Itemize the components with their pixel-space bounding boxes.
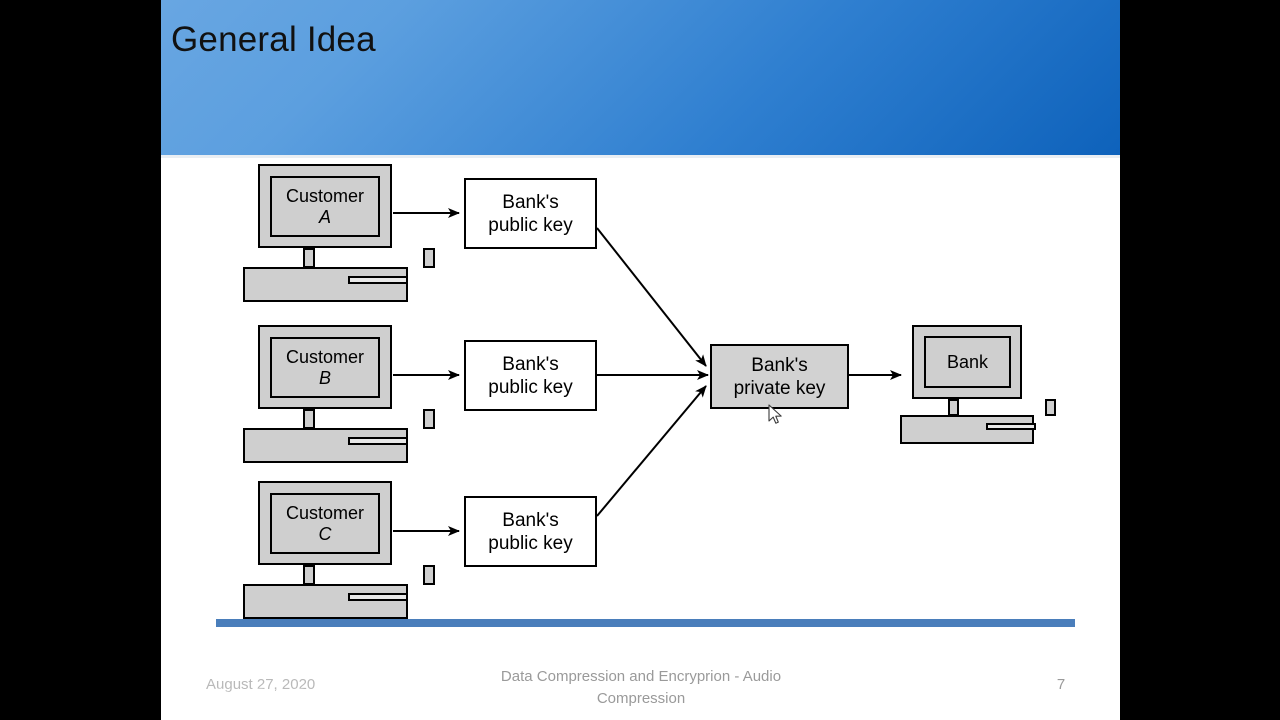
customer-c-name: Customer (286, 503, 364, 524)
customer-a-letter: A (319, 207, 331, 228)
player-toolbar[interactable] (164, 688, 394, 718)
monitor-stand-right (423, 248, 435, 268)
customer-a-name: Customer (286, 186, 364, 207)
footer-accent-bar (216, 619, 1075, 627)
monitor-stand-left (303, 565, 315, 585)
footer-subject-line1: Data Compression and Encryprion - Audio (431, 666, 851, 688)
bank-private-key-box: Bank's private key (710, 344, 849, 409)
monitor-screen: Bank (924, 336, 1011, 388)
page-title: General Idea (171, 20, 376, 60)
pen-button[interactable] (244, 688, 274, 718)
private-key-line2: private key (734, 377, 826, 400)
triangle-left-icon (173, 697, 185, 709)
public-key-line2: public key (488, 532, 573, 555)
customer-a-computer: Customer A (243, 164, 408, 299)
bank-public-key-box-c: Bank's public key (464, 496, 597, 567)
presentation-slide: General Idea (161, 0, 1120, 720)
drive-slot (348, 276, 408, 284)
public-key-line1: Bank's (502, 509, 558, 532)
magnifier-icon (332, 696, 346, 710)
public-key-line1: Bank's (502, 353, 558, 376)
monitor-screen: Customer B (270, 337, 380, 398)
bank-label: Bank (947, 352, 988, 373)
public-key-line1: Bank's (502, 191, 558, 214)
bank-public-key-box-b: Bank's public key (464, 340, 597, 411)
computer-base-unit (243, 428, 408, 463)
mouse-cursor (768, 404, 784, 426)
copy-icon (292, 696, 306, 710)
video-player-stage: General Idea (0, 0, 1280, 720)
bank-public-key-box-a: Bank's public key (464, 178, 597, 249)
previous-slide-button[interactable] (164, 688, 194, 718)
duplicate-button[interactable] (284, 688, 314, 718)
general-idea-diagram: Customer A Bank's public key Customer B (161, 158, 1120, 620)
public-key-line2: public key (488, 376, 573, 399)
monitor-stand-left (303, 248, 315, 268)
customer-c-letter: C (319, 524, 332, 545)
monitor-stand-left (948, 399, 959, 416)
monitor-stand-right (423, 409, 435, 429)
customer-c-computer: Customer C (243, 481, 408, 616)
monitor-screen: Customer C (270, 493, 380, 554)
drive-slot (986, 423, 1036, 430)
pen-icon (252, 696, 266, 710)
bank-computer: Bank (900, 325, 1034, 440)
customer-b-letter: B (319, 368, 331, 389)
drive-slot (348, 593, 408, 601)
monitor-stand-right (423, 565, 435, 585)
next-slide-button[interactable] (204, 688, 234, 718)
footer-subject-line2: Compression (431, 688, 851, 710)
monitor-stand-right (1045, 399, 1056, 416)
public-key-line2: public key (488, 214, 573, 237)
footer-subject-text: Data Compression and Encryprion - Audio … (431, 666, 851, 710)
computer-base-unit (243, 584, 408, 619)
monitor-screen: Customer A (270, 176, 380, 237)
footer-page-number: 7 (1041, 676, 1081, 693)
ellipsis-icon (372, 696, 386, 710)
triangle-right-icon (213, 697, 225, 709)
private-key-line1: Bank's (751, 354, 807, 377)
customer-b-computer: Customer B (243, 325, 408, 460)
drive-slot (348, 437, 408, 445)
monitor-stand-left (303, 409, 315, 429)
customer-b-name: Customer (286, 347, 364, 368)
computer-base-unit (243, 267, 408, 302)
more-options-button[interactable] (364, 688, 394, 718)
zoom-button[interactable] (324, 688, 354, 718)
